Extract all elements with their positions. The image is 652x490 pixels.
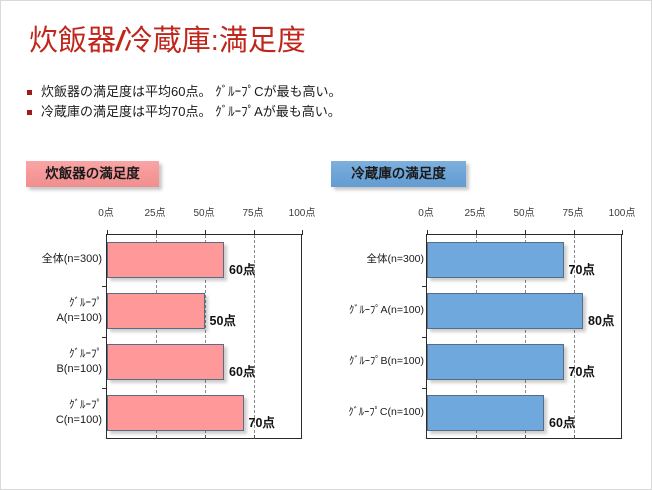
plot-area: 70点 80点 70点 60点 bbox=[426, 234, 622, 439]
x-tick-label: 50点 bbox=[193, 204, 214, 219]
axis-tick bbox=[422, 388, 427, 389]
page-title-separator: / bbox=[116, 25, 124, 56]
slide-canvas: 炊飯器/冷蔵庫:満足度 炊飯器の満足度は平均60点。 ｸﾞﾙｰﾌﾟCが最も高い。… bbox=[0, 0, 652, 490]
chart-rice-cooker-satisfaction: 0点 25点 50点 75点 100点 bbox=[5, 204, 323, 449]
x-tick-label: 25点 bbox=[144, 204, 165, 219]
x-tick-label: 50点 bbox=[513, 204, 534, 219]
axis-tick bbox=[205, 435, 206, 439]
axis-tick bbox=[427, 230, 428, 235]
category-label: 全体(n=300) bbox=[6, 252, 102, 267]
category-label: ｸﾞﾙｰﾌﾟ C(n=100) bbox=[6, 398, 102, 428]
bar-segment bbox=[427, 395, 544, 431]
axis-tick bbox=[422, 337, 427, 338]
bar-segment bbox=[427, 344, 564, 380]
bar-segment bbox=[107, 293, 205, 329]
x-tick-label: 75点 bbox=[562, 204, 583, 219]
page-title-part2: 冷蔵庫:満足度 bbox=[124, 25, 306, 57]
axis-tick bbox=[574, 435, 575, 439]
category-label: ｸﾞﾙｰﾌﾟC(n=100) bbox=[324, 405, 424, 419]
bar-value-label: 60点 bbox=[229, 361, 255, 380]
category-label: ｸﾞﾙｰﾌﾟB(n=100) bbox=[324, 354, 424, 368]
axis-tick bbox=[422, 286, 427, 287]
category-label: ｸﾞﾙｰﾌﾟ A(n=100) bbox=[6, 296, 102, 326]
page-title-part1: 炊飯器 bbox=[29, 25, 116, 57]
list-item: 炊飯器の満足度は平均60点。 ｸﾞﾙｰﾌﾟCが最も高い。 bbox=[27, 83, 587, 100]
list-item: 冷蔵庫の満足度は平均70点。 ｸﾞﾙｰﾌﾟAが最も高い。 bbox=[27, 103, 587, 120]
axis-tick bbox=[525, 230, 526, 235]
axis-tick bbox=[156, 435, 157, 439]
category-label: ｸﾞﾙｰﾌﾟ B(n=100) bbox=[6, 347, 102, 377]
axis-tick bbox=[574, 230, 575, 235]
bar-value-label: 70点 bbox=[569, 259, 595, 278]
bar-value-label: 60点 bbox=[229, 259, 255, 278]
bar-segment bbox=[427, 293, 583, 329]
section-badge-rice-cooker: 炊飯器の満足度 bbox=[26, 161, 159, 187]
bar-segment bbox=[107, 344, 224, 380]
square-bullet-icon bbox=[27, 110, 32, 115]
square-bullet-icon bbox=[27, 90, 32, 95]
axis-tick bbox=[102, 286, 107, 287]
axis-tick bbox=[156, 230, 157, 235]
section-badge-refrigerator: 冷蔵庫の満足度 bbox=[331, 161, 466, 187]
axis-tick bbox=[102, 388, 107, 389]
axis-tick bbox=[254, 230, 255, 235]
axis-tick bbox=[525, 435, 526, 439]
axis-tick bbox=[476, 435, 477, 439]
category-label: 全体(n=300) bbox=[324, 252, 424, 266]
bar-value-label: 70点 bbox=[249, 412, 275, 431]
bar-value-label: 50点 bbox=[210, 310, 236, 329]
bullet-list: 炊飯器の満足度は平均60点。 ｸﾞﾙｰﾌﾟCが最も高い。 冷蔵庫の満足度は平均7… bbox=[27, 83, 587, 123]
x-tick-label: 75点 bbox=[242, 204, 263, 219]
x-tick-label: 100点 bbox=[609, 204, 636, 219]
category-label: ｸﾞﾙｰﾌﾟA(n=100) bbox=[324, 303, 424, 317]
bar-value-label: 80点 bbox=[588, 310, 614, 329]
chart-refrigerator-satisfaction: 0点 25点 50点 75点 100点 70点 bbox=[327, 204, 649, 449]
bar-segment bbox=[107, 395, 244, 431]
axis-tick bbox=[302, 230, 303, 235]
x-tick-label: 100点 bbox=[289, 204, 316, 219]
axis-tick bbox=[254, 435, 255, 439]
bar-segment bbox=[427, 242, 564, 278]
axis-tick bbox=[622, 230, 623, 235]
page-title: 炊飯器/冷蔵庫:満足度 bbox=[29, 17, 306, 59]
plot-area: 60点 50点 60点 70点 bbox=[106, 234, 302, 439]
axis-tick bbox=[102, 337, 107, 338]
bullet-text: 冷蔵庫の満足度は平均70点。 ｸﾞﾙｰﾌﾟAが最も高い。 bbox=[41, 103, 341, 120]
bar-value-label: 60点 bbox=[549, 412, 575, 431]
axis-tick bbox=[107, 230, 108, 235]
bar-value-label: 70点 bbox=[569, 361, 595, 380]
bullet-text: 炊飯器の満足度は平均60点。 ｸﾞﾙｰﾌﾟCが最も高い。 bbox=[41, 83, 341, 100]
bar-segment bbox=[107, 242, 224, 278]
axis-tick bbox=[476, 230, 477, 235]
axis-tick bbox=[205, 230, 206, 235]
x-tick-label: 25点 bbox=[464, 204, 485, 219]
x-tick-label: 0点 bbox=[418, 204, 434, 219]
x-tick-label: 0点 bbox=[98, 204, 114, 219]
